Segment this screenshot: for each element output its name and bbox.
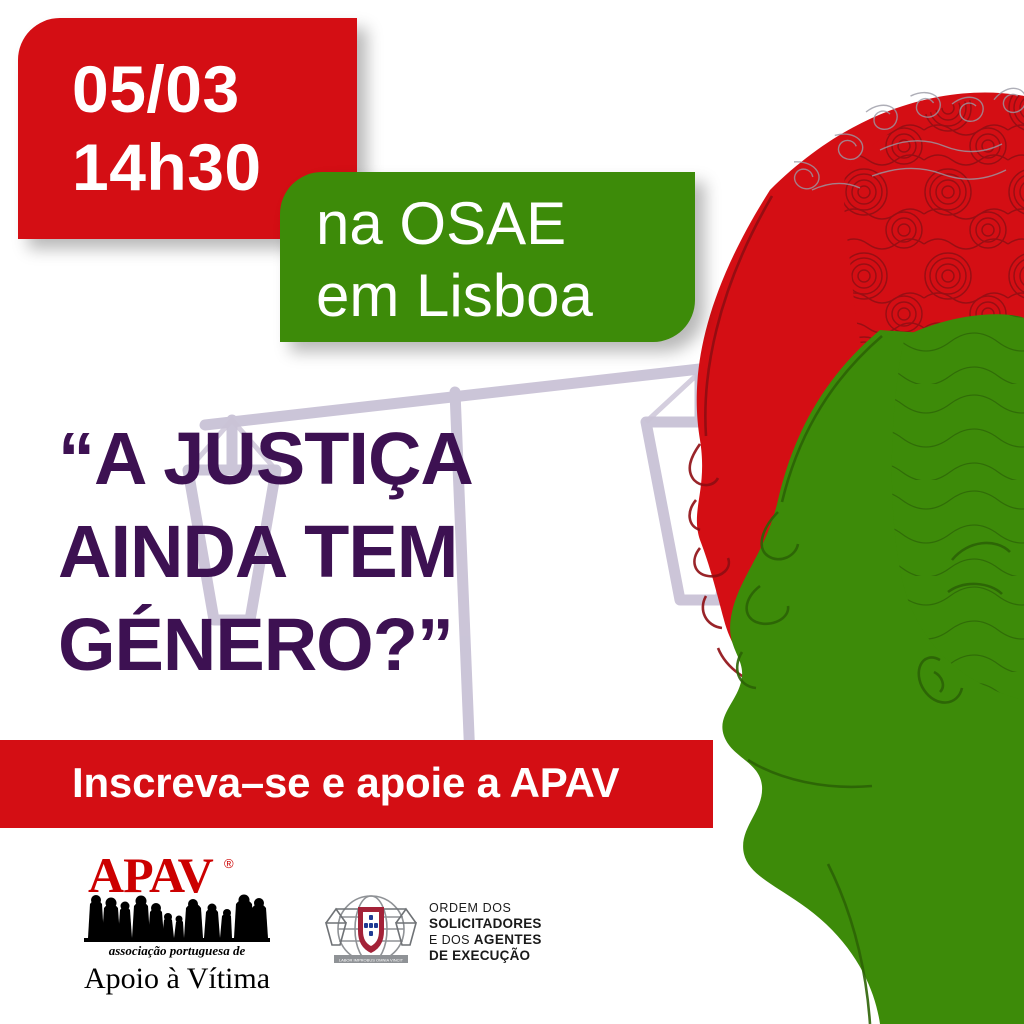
apav-tagline-serif: Apoio à Vítima (84, 962, 270, 995)
venue-badge: na OSAE em Lisboa (280, 172, 695, 342)
osae-line4: DE EXECUÇÃO (429, 948, 530, 963)
apav-tagline-italic: associação portuguesa de (109, 943, 246, 958)
apav-registered-mark: ® (224, 856, 234, 871)
osae-motto-ribbon: LABOR IMPROBUS OMNIA VINCIT (334, 955, 408, 963)
date-time-label: 05/03 14h30 (72, 50, 262, 206)
cta-label: Inscreva–se e apoie a APAV (72, 759, 619, 807)
portuguese-shield-icon (358, 907, 384, 953)
osae-line3-light: E DOS (429, 933, 474, 947)
osae-logo: LABOR IMPROBUS OMNIA VINCIT ORDEM DOS SO… (316, 893, 571, 973)
osae-line3-bold: AGENTES (474, 932, 542, 947)
svg-text:E DOS AGENTES: E DOS AGENTES (429, 932, 542, 947)
apav-logo: APAV ® associação portuguesa de Apoio à … (72, 848, 282, 1008)
apav-wordmark: APAV (88, 848, 214, 903)
osae-line1: ORDEM DOS (429, 901, 512, 915)
osae-motto: LABOR IMPROBUS OMNIA VINCIT (339, 957, 404, 962)
cta-banner[interactable]: Inscreva–se e apoie a APAV (0, 740, 713, 828)
osae-line2: SOLICITADORES (429, 916, 542, 931)
poster-canvas: 05/03 14h30 na OSAE em Lisboa “A JUSTIÇA… (0, 0, 1024, 1024)
headline: “A JUSTIÇA AINDA TEM GÉNERO?” (58, 412, 698, 691)
venue-label: na OSAE em Lisboa (316, 188, 593, 332)
